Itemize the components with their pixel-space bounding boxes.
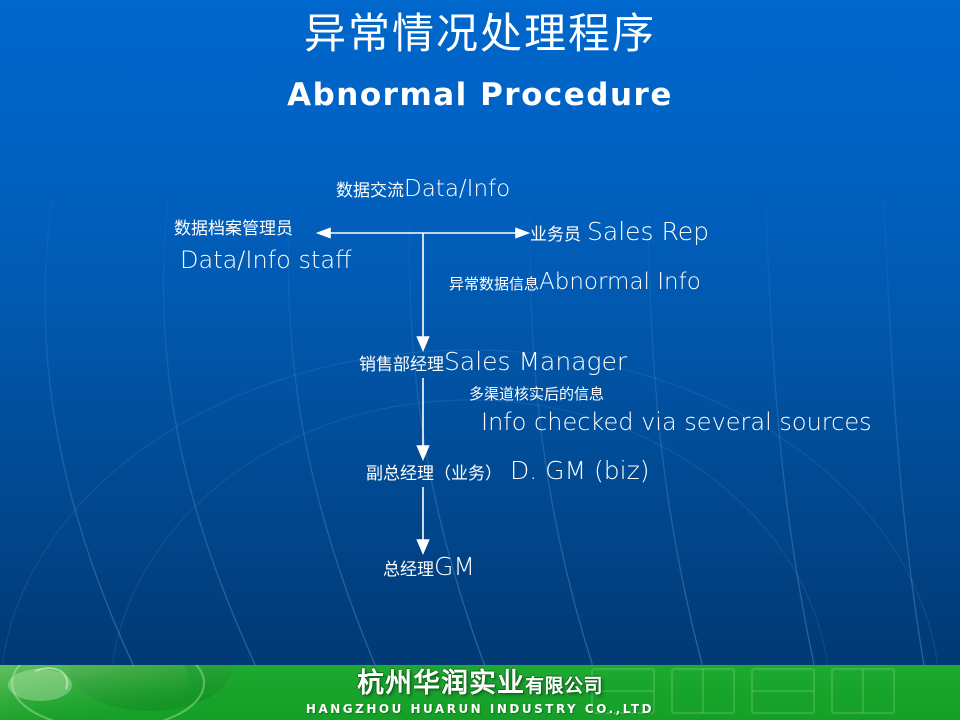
edge-label-abnormal-info-cn: 异常数据信息: [449, 275, 539, 293]
slide-title-chinese: 异常情况处理程序: [0, 8, 960, 60]
node-deputy-gm-cn: 副总经理（业务）: [366, 464, 502, 484]
footer-logo-bar: 杭州华润实业有限公司 HANGZHOU HUARUN INDUSTRY CO.,…: [0, 665, 960, 720]
edge-label-info-checked-en: Info checked via several sources: [481, 409, 872, 437]
edge-label-data-info-en: Data/Info: [404, 176, 510, 202]
node-sales-manager-en: Sales Manager: [444, 347, 627, 376]
slide-title-english: Abnormal Procedure: [0, 74, 960, 116]
node-sales-manager: 销售部经理Sales Manager: [359, 348, 627, 377]
node-gm-en: GM: [434, 552, 475, 581]
node-deputy-gm-en: D. GM (biz): [502, 456, 649, 485]
edge-label-abnormal-info-en: Abnormal Info: [539, 269, 701, 295]
node-sales-manager-cn: 销售部经理: [359, 355, 444, 375]
node-sales-rep: 业务员Sales Rep: [530, 218, 709, 247]
edge-label-abnormal-info: 异常数据信息Abnormal Info: [449, 269, 701, 295]
edge-label-data-info: 数据交流Data/Info: [336, 176, 510, 202]
node-deputy-gm: 副总经理（业务）D. GM (biz): [366, 457, 649, 486]
arrow-down-to-sales-manager: [418, 233, 429, 350]
footer-company-name-cn: 杭州华润实业有限公司: [357, 669, 603, 701]
arrow-down-to-dgm: [418, 378, 429, 459]
node-sales-rep-cn: 业务员: [530, 225, 581, 245]
node-data-info-staff-en: Data/Info staff: [180, 247, 352, 275]
slide-canvas: 异常情况处理程序 Abnormal Procedure: [0, 0, 960, 720]
edge-label-info-checked-cn: 多渠道核实后的信息: [469, 386, 872, 403]
footer-company-name-en: HANGZHOU HUARUN INDUSTRY CO.,LTD: [306, 701, 654, 717]
footer-company-name-main: 杭州华润实业: [357, 668, 525, 699]
node-data-info-staff-cn: 数据档案管理员: [174, 220, 352, 240]
footer-logo-text: 杭州华润实业有限公司 HANGZHOU HUARUN INDUSTRY CO.,…: [0, 665, 960, 720]
arrow-down-to-gm: [418, 487, 429, 553]
edge-label-info-checked: 多渠道核实后的信息 Info checked via several sourc…: [469, 386, 872, 437]
node-gm: 总经理GM: [383, 553, 475, 582]
node-sales-rep-en: Sales Rep: [581, 217, 709, 246]
node-gm-cn: 总经理: [383, 560, 434, 580]
edge-label-data-info-cn: 数据交流: [336, 181, 404, 201]
node-data-info-staff: 数据档案管理员 Data/Info staff: [174, 220, 352, 274]
footer-company-name-suffix: 有限公司: [525, 675, 603, 697]
